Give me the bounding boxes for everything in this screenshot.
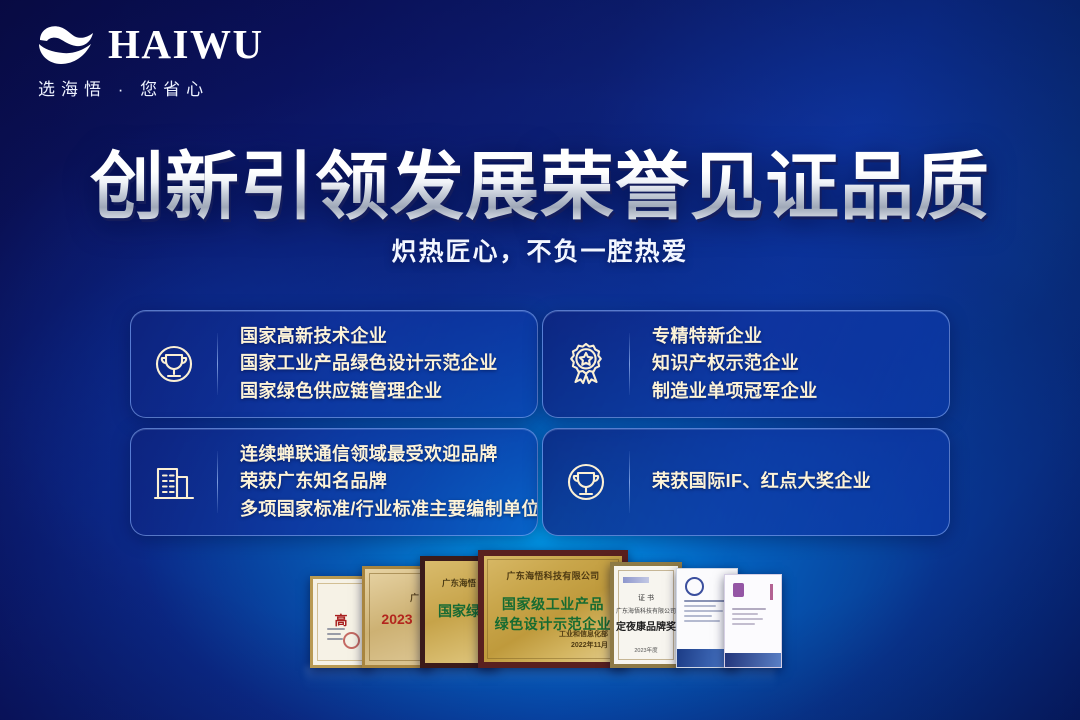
card-text-group: 专精特新企业 知识产权示范企业 制造业单项冠军企业 bbox=[630, 323, 949, 405]
star-medal-icon bbox=[543, 340, 629, 388]
card-line: 制造业单项冠军企业 bbox=[652, 378, 935, 405]
honors-card-grid: 国家高新技术企业 国家工业产品绿色设计示范企业 国家绿色供应链管理企业 专精特新… bbox=[130, 310, 950, 536]
certificate-showcase: 高 2023 广 广东海悟 国家绿 广东海悟科技有限公司 国家级工业产品 绿色设… bbox=[310, 550, 770, 668]
brand-logo[interactable]: HAIWU 选海悟 · 您省心 bbox=[36, 22, 286, 100]
certificate-emblem-icon bbox=[733, 583, 744, 597]
honor-card-specialized-new[interactable]: 专精特新企业 知识产权示范企业 制造业单项冠军企业 bbox=[542, 310, 950, 418]
office-building-icon bbox=[131, 458, 217, 506]
logo-slogan: 选海悟 · 您省心 bbox=[36, 75, 286, 100]
plaque-title-line-1: 国家级工业产品 bbox=[484, 594, 622, 614]
logo-wordmark: HAIWU bbox=[108, 24, 264, 65]
trophy-circle-icon bbox=[131, 340, 217, 388]
card-line: 国家工业产品绿色设计示范企业 bbox=[240, 350, 523, 377]
honor-card-popular-brand[interactable]: 连续蝉联通信领域最受欢迎品牌 荣获广东知名品牌 多项国家标准/行业标准主要编制单… bbox=[130, 428, 538, 536]
card-text-group: 荣获国际IF、红点大奖企业 bbox=[630, 468, 949, 495]
certificate-footer-band bbox=[725, 653, 781, 667]
headline-container: 创新引领发展荣誉见证品质 bbox=[0, 148, 1080, 226]
headline-part-1: 创新引领发展 bbox=[90, 148, 540, 226]
trophy-circle-icon bbox=[543, 458, 629, 506]
card-text-group: 国家高新技术企业 国家工业产品绿色设计示范企业 国家绿色供应链管理企业 bbox=[218, 323, 537, 405]
haiwu-bird-wave-mark-icon bbox=[36, 22, 96, 66]
card-line: 知识产权示范企业 bbox=[652, 350, 935, 377]
card-line: 国家高新技术企业 bbox=[240, 323, 523, 350]
certificate-header-band bbox=[623, 577, 649, 583]
honor-card-international-awards[interactable]: 荣获国际IF、红点大奖企业 bbox=[542, 428, 950, 536]
accreditation-seal-icon bbox=[685, 577, 704, 596]
card-line: 国家绿色供应链管理企业 bbox=[240, 378, 523, 405]
headline-subtitle: 炽热匠心，不负一腔热爱 bbox=[0, 232, 1080, 268]
plaque-date: 2022年11月 bbox=[571, 640, 608, 650]
honor-card-national-hightech[interactable]: 国家高新技术企业 国家工业产品绿色设计示范企业 国家绿色供应链管理企业 bbox=[130, 310, 538, 418]
plaque-issuer: 工业和信息化部 bbox=[559, 629, 608, 639]
card-line: 荣获广东知名品牌 bbox=[240, 468, 538, 495]
seal-stamp bbox=[343, 632, 360, 649]
card-line: 荣获国际IF、红点大奖企业 bbox=[652, 468, 935, 495]
logo-row: HAIWU bbox=[36, 22, 286, 66]
certificate-item[interactable]: 证 书 广东海悟科技有限公司 定夜康品牌奖 2023年度 bbox=[610, 562, 682, 668]
card-text-group: 连续蝉联通信领域最受欢迎品牌 荣获广东知名品牌 多项国家标准/行业标准主要编制单… bbox=[218, 441, 538, 523]
card-line: 连续蝉联通信领域最受欢迎品牌 bbox=[240, 441, 538, 468]
certificate-item[interactable] bbox=[724, 574, 782, 668]
headline-part-2: 荣誉见证品质 bbox=[540, 148, 990, 226]
certificate-label: 定夜康品牌奖 bbox=[614, 622, 678, 635]
plaque-company: 广东海悟科技有限公司 bbox=[484, 569, 622, 582]
card-line: 专精特新企业 bbox=[652, 323, 935, 350]
certificate-featured-plaque[interactable]: 广东海悟科技有限公司 国家级工业产品 绿色设计示范企业 工业和信息化部 2022… bbox=[478, 550, 628, 668]
card-line: 多项国家标准/行业标准主要编制单位 bbox=[240, 496, 538, 523]
promotional-banner: HAIWU 选海悟 · 您省心 创新引领发展荣誉见证品质 炽热匠心，不负一腔热爱 bbox=[0, 0, 1080, 720]
